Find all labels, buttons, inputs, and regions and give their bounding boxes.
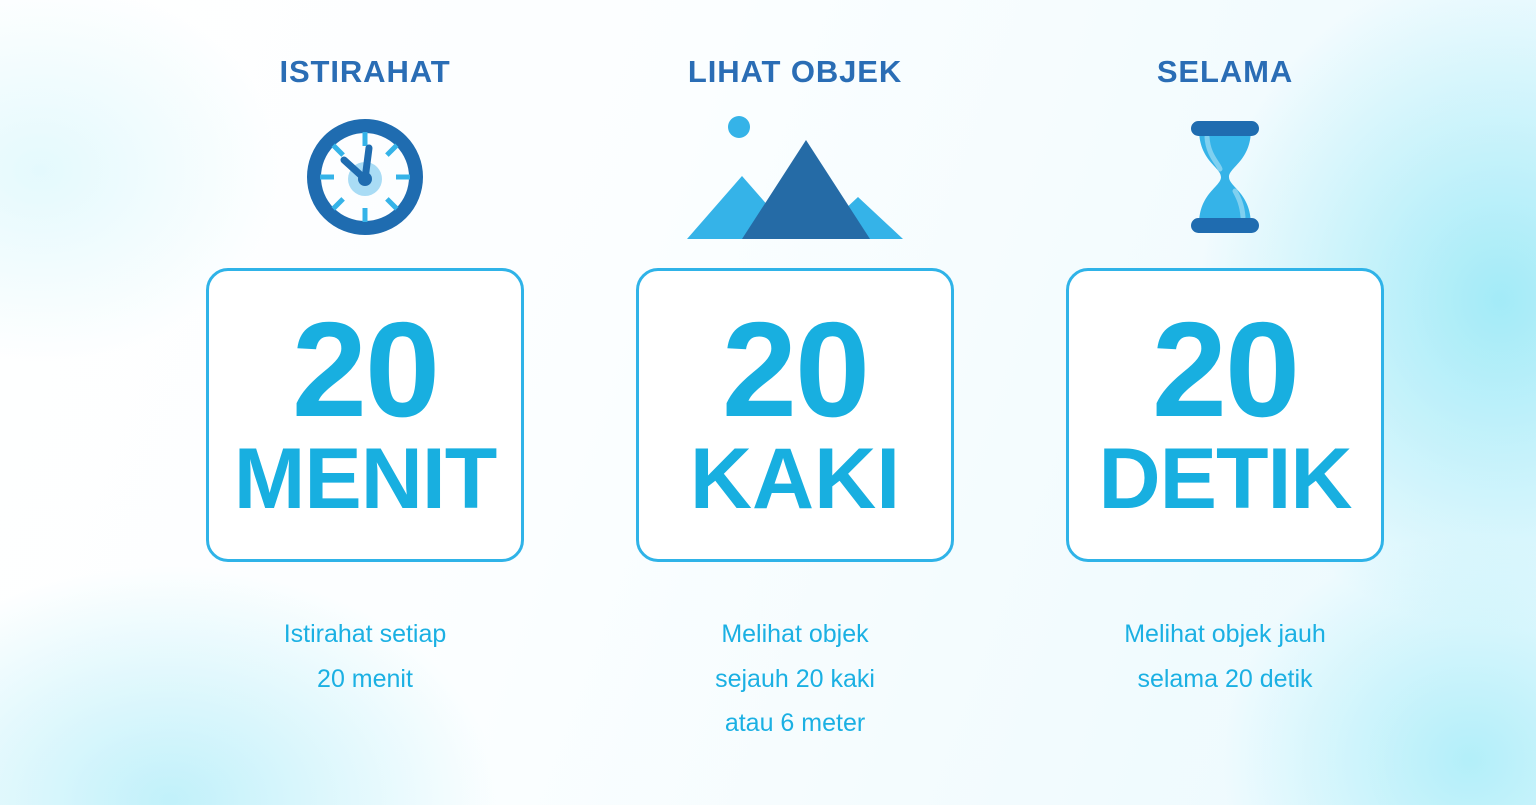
caption-lihat-objek: Melihat objek sejauh 20 kaki atau 6 mete…	[715, 612, 875, 746]
value-unit-kaki: KAKI	[690, 436, 900, 522]
value-unit-detik: DETIK	[1099, 436, 1352, 522]
value-number-menit: 20	[292, 308, 438, 432]
column-heading-istirahat: ISTIRAHAT	[279, 56, 450, 87]
hourglass-icon	[1185, 109, 1265, 244]
column-selama: SELAMA 20 DETIK Melihat objek jauh selam…	[1010, 0, 1440, 805]
column-heading-lihat-objek: LIHAT OBJEK	[688, 56, 902, 87]
caption-line: Istirahat setiap	[284, 612, 447, 657]
caption-line: selama 20 detik	[1124, 657, 1326, 702]
caption-istirahat: Istirahat setiap 20 menit	[284, 612, 447, 701]
caption-line: 20 menit	[284, 657, 447, 702]
hourglass-icon-graphic	[1185, 113, 1265, 241]
mountains-icon	[682, 109, 908, 244]
clock-icon	[306, 109, 424, 244]
column-istirahat: ISTIRAHAT 20	[150, 0, 580, 805]
caption-line: Melihat objek	[715, 612, 875, 657]
value-unit-menit: MENIT	[234, 436, 497, 522]
value-card-menit: 20 MENIT	[206, 268, 524, 562]
clock-icon-graphic	[306, 118, 424, 236]
value-number-detik: 20	[1152, 308, 1298, 432]
value-card-detik: 20 DETIK	[1066, 268, 1384, 562]
caption-line: sejauh 20 kaki	[715, 657, 875, 702]
value-card-kaki: 20 KAKI	[636, 268, 954, 562]
caption-selama: Melihat objek jauh selama 20 detik	[1124, 612, 1326, 701]
mountains-icon-graphic	[682, 113, 908, 241]
infographic-board: ISTIRAHAT 20	[0, 0, 1536, 805]
column-lihat-objek: LIHAT OBJEK 20 KAKI Melihat objek sejauh…	[580, 0, 1010, 805]
column-heading-selama: SELAMA	[1157, 56, 1293, 87]
caption-line: atau 6 meter	[715, 701, 875, 746]
caption-line: Melihat objek jauh	[1124, 612, 1326, 657]
value-number-kaki: 20	[722, 308, 868, 432]
